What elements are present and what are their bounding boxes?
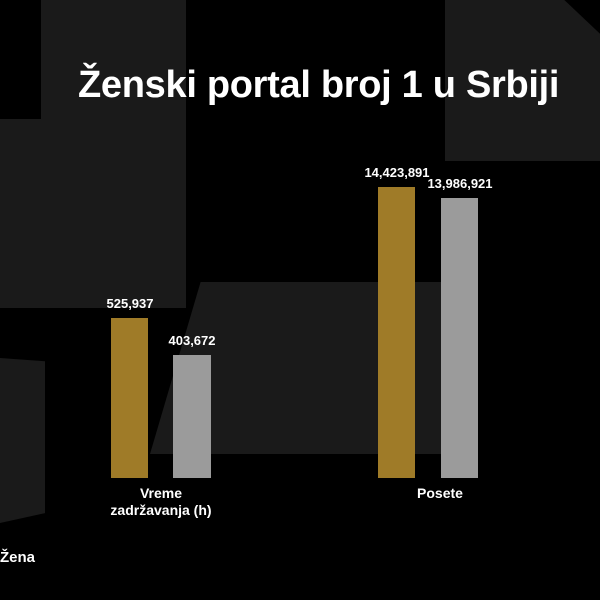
- bar-gold-0[interactable]: [111, 318, 148, 478]
- bar-value-label: 525,937: [100, 296, 160, 311]
- category-label: Posete: [370, 485, 510, 502]
- chart-canvas: Ženski portal broj 1 u Srbiji 525,937403…: [0, 0, 600, 600]
- bar-gold-2[interactable]: [378, 187, 415, 478]
- bar-value-label: 403,672: [162, 333, 222, 348]
- footer-annotation: Žena: [0, 549, 35, 566]
- bar-grey-1[interactable]: [173, 355, 211, 478]
- plot-area: 525,937403,67214,423,89113,986,921Vreme …: [0, 0, 600, 600]
- category-label: Vreme zadržavanja (h): [81, 485, 241, 519]
- bar-value-label: 13,986,921: [410, 176, 510, 191]
- bar-grey-3[interactable]: [441, 198, 478, 478]
